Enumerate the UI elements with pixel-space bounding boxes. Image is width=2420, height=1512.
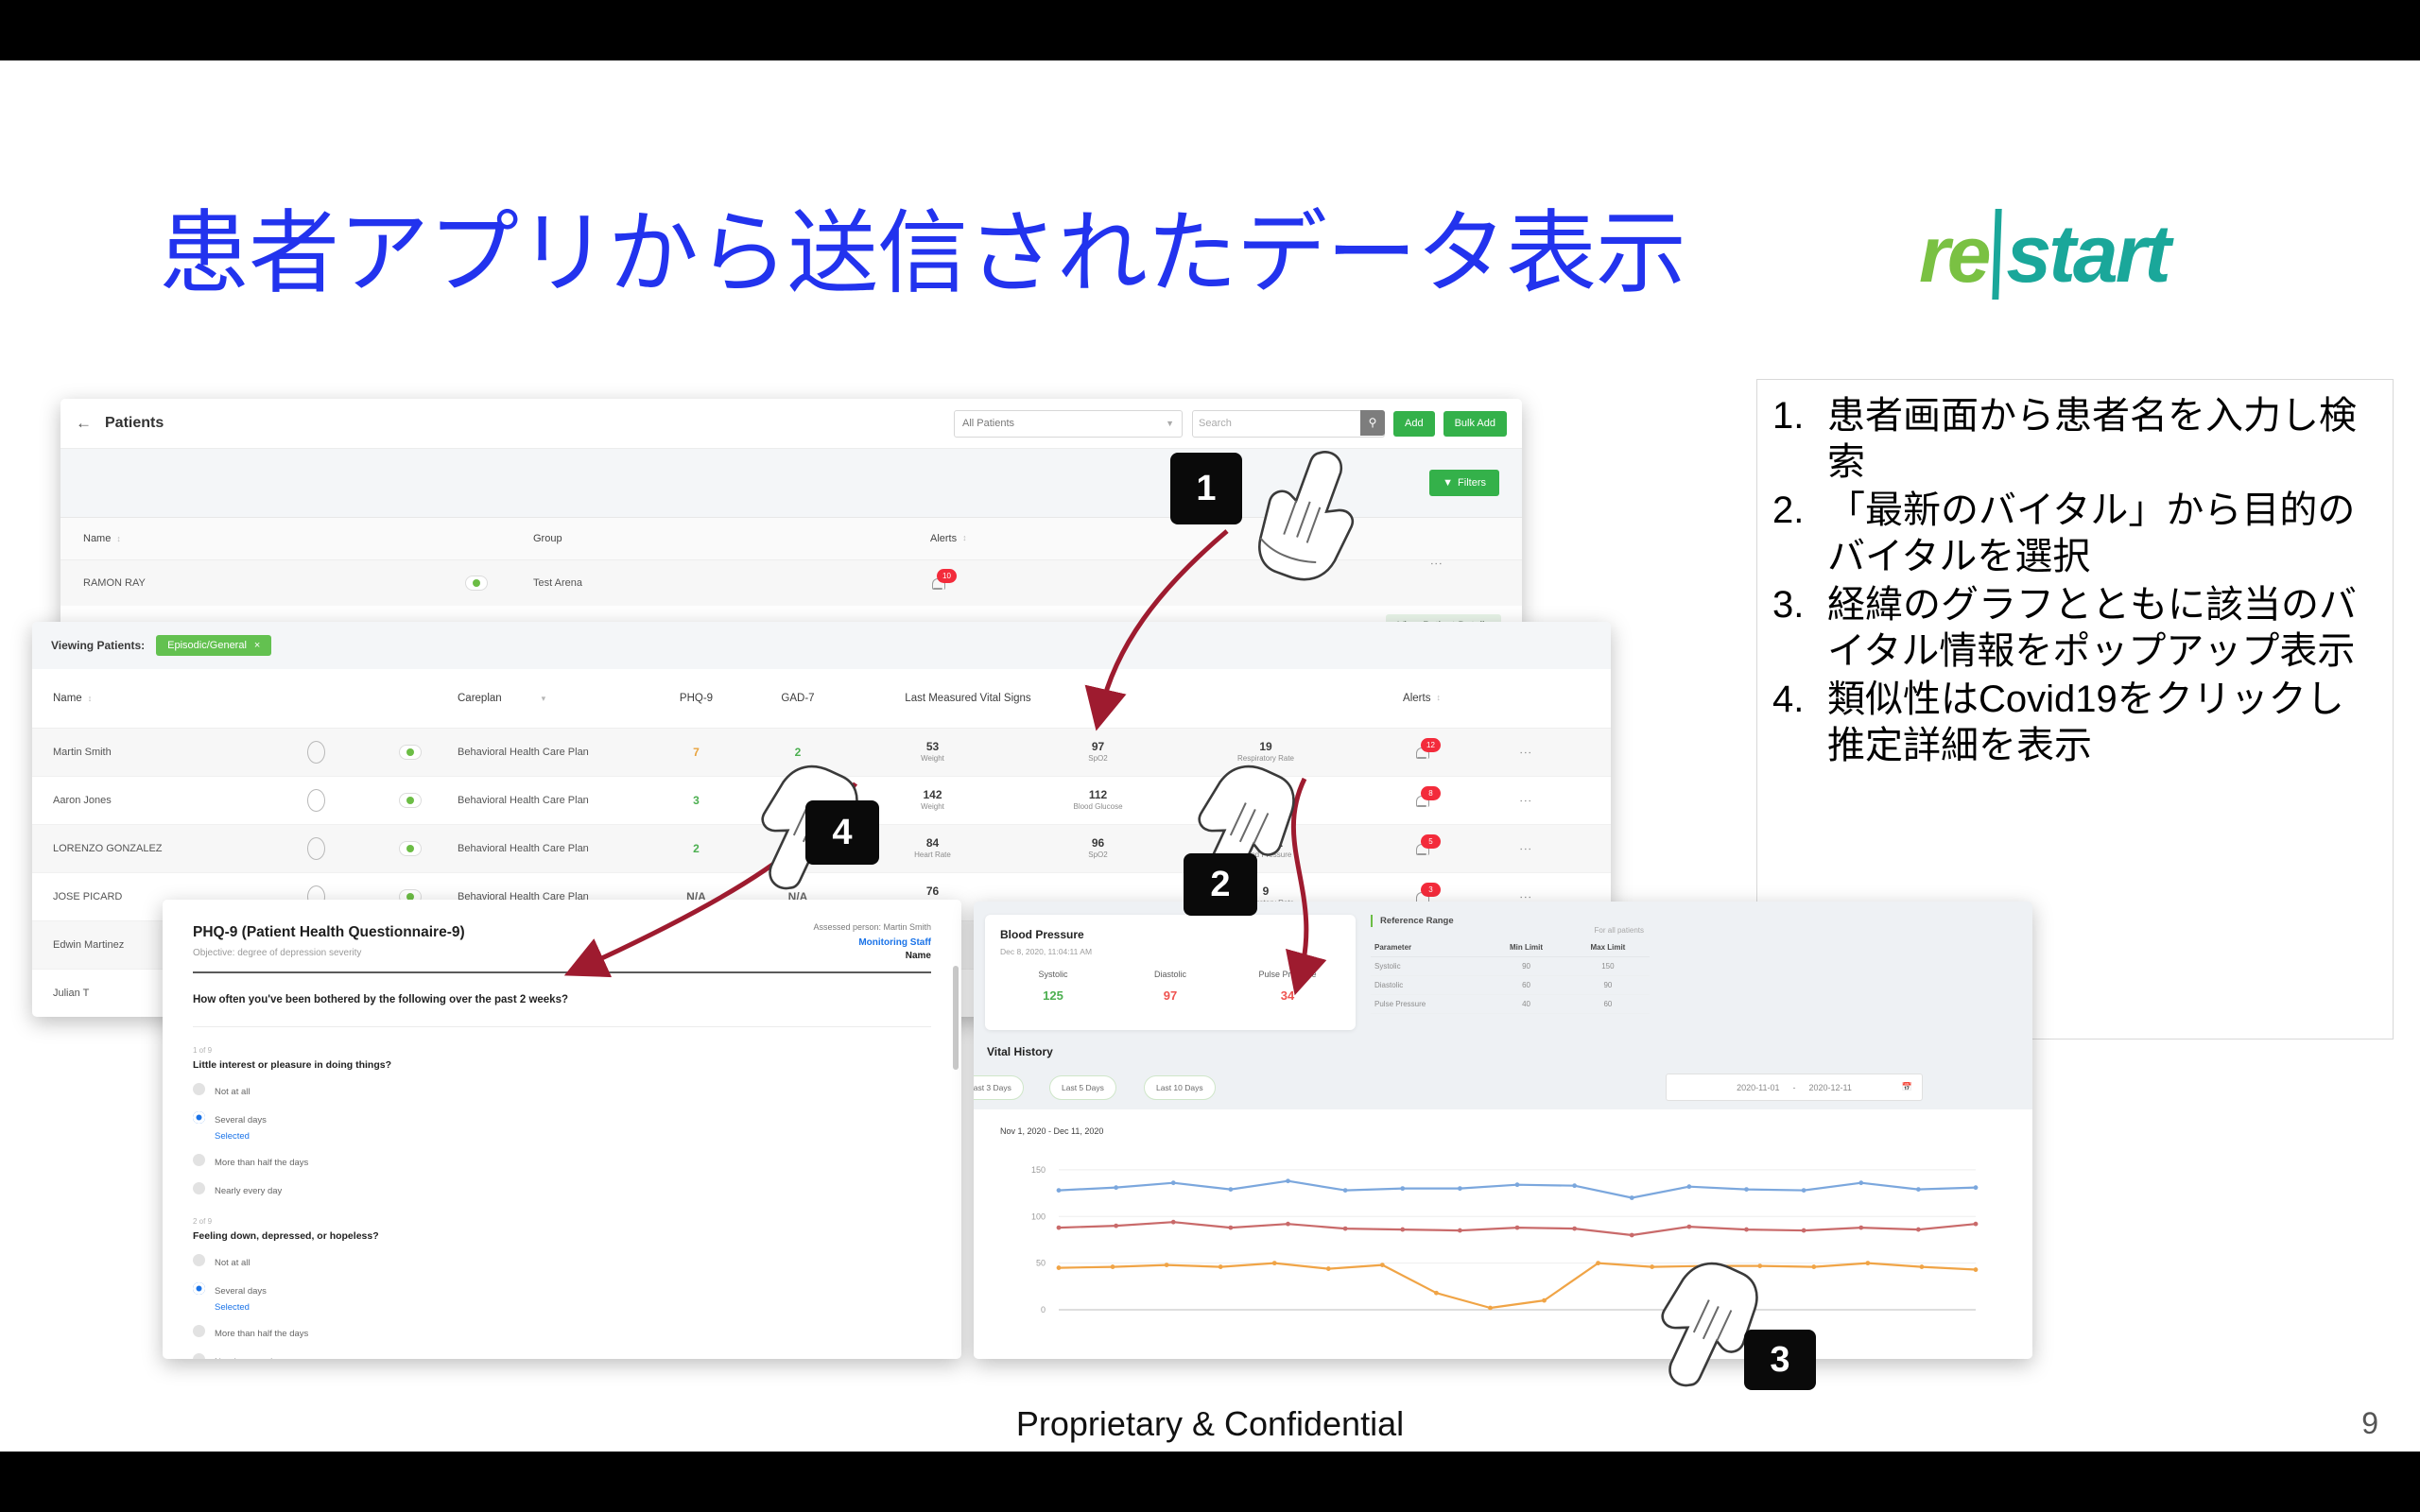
table-row[interactable]: RAMON RAY Test Arena 10	[60, 560, 1522, 606]
range-pill-5-days[interactable]: Last 5 Days	[1049, 1075, 1116, 1100]
calendar-icon[interactable]: 📅	[1902, 1082, 1912, 1092]
radio-option[interactable]: Several daysSelected	[193, 1281, 931, 1313]
list-item: 3. 経緯のグラフとともに該当のバイタル情報をポップアップ表示	[1827, 582, 2376, 675]
chart-svg: 050100150	[974, 1147, 2032, 1336]
vital-history-title: Vital History	[987, 1045, 1053, 1058]
date-from: 2020-11-01	[1737, 1083, 1779, 1092]
blood-pressure-metrics: Systolic 125 Diastolic 97 Pulse Pressure…	[985, 970, 1356, 1003]
bell-icon: 12	[1414, 744, 1429, 761]
vital-history-chart: Nov 1, 2020 - Dec 11, 2020 050100150	[974, 1109, 2032, 1359]
column-header-name-label: Name	[83, 533, 111, 544]
careplan: Behavioral Health Care Plan	[458, 747, 647, 758]
step-marker-4: 4	[805, 800, 879, 865]
phq9-score: 2	[647, 842, 746, 855]
status-toggle[interactable]	[363, 745, 458, 760]
row-menu-button[interactable]: ⋮	[1493, 843, 1559, 855]
table-row: Systolic 90 150	[1371, 957, 1650, 976]
status-badge: 5	[1421, 834, 1441, 849]
question-text: Little interest or pleasure in doing thi…	[193, 1059, 931, 1071]
svg-text:50: 50	[1036, 1259, 1046, 1268]
step-marker-1: 1	[1170, 453, 1242, 524]
phq9-prompt: How often you've been bothered by the fo…	[193, 994, 931, 1005]
patients-topbar: ← Patients All Patients ▼ Search ⚲ Add B…	[60, 399, 1522, 449]
patient-name: LORENZO GONZALEZ	[32, 843, 268, 854]
patients-screen-screenshot: ← Patients All Patients ▼ Search ⚲ Add B…	[60, 399, 1522, 644]
svg-text:100: 100	[1031, 1211, 1046, 1221]
sort-icon: ↕	[962, 533, 967, 544]
radio-option[interactable]: Not at all	[193, 1253, 931, 1270]
column-header-vitals: Last Measured Vital Signs	[850, 693, 1086, 704]
column-header-phq9: PHQ-9	[647, 693, 746, 704]
search-input-placeholder: Search	[1199, 418, 1232, 429]
sort-icon: ↕	[1436, 693, 1441, 704]
ref-col-parameter: Parameter	[1371, 938, 1486, 957]
reference-range-table: Parameter Min Limit Max Limit Systolic 9…	[1371, 938, 1650, 1014]
staff-name: Name	[813, 951, 931, 961]
careplan: Behavioral Health Care Plan	[458, 843, 647, 854]
column-header-gad7: GAD-7	[746, 693, 850, 704]
page-title: 患者アプリから送信されたデータ表示	[159, 202, 1823, 306]
list-item-number: 4.	[1772, 677, 1820, 723]
filters-button-label: Filters	[1458, 477, 1486, 489]
alerts-cell[interactable]: 8	[1351, 792, 1493, 809]
blood-pressure-card: Blood Pressure Dec 8, 2020, 11:04:11 AM …	[985, 915, 1356, 1030]
search-input[interactable]: Search ⚲	[1192, 410, 1385, 438]
sort-icon: ↕	[116, 534, 121, 543]
avatar	[268, 741, 363, 764]
alerts-cell[interactable]: 10	[930, 575, 1214, 592]
close-icon[interactable]: ×	[254, 640, 260, 651]
column-header-group-label: Group	[533, 533, 562, 544]
logo-re-text: re	[1919, 215, 1988, 294]
radio-option[interactable]: More than half the days	[193, 1324, 931, 1341]
filter-chip-label: Episodic/General	[167, 640, 247, 651]
chart-title: Nov 1, 2020 - Dec 11, 2020	[974, 1109, 2032, 1136]
status-toggle[interactable]	[363, 841, 458, 856]
step-marker-2: 2	[1184, 853, 1257, 916]
status-badge: 10	[937, 569, 957, 583]
avatar	[268, 789, 363, 812]
radio-option[interactable]: Nearly every day	[193, 1352, 931, 1359]
funnel-icon: ▾	[542, 694, 546, 703]
monitoring-staff-link[interactable]: Monitoring Staff	[813, 937, 931, 948]
vital-sign[interactable]: 96SpO2	[1015, 836, 1181, 861]
svg-text:150: 150	[1031, 1165, 1046, 1175]
patients-subbar: ▼ Filters	[60, 449, 1522, 518]
column-header-alerts-label: Alerts	[930, 533, 957, 544]
avatar	[268, 837, 363, 860]
radio-icon	[193, 1353, 205, 1359]
phq9-score: 3	[647, 794, 746, 807]
chevron-down-icon: ▼	[1166, 419, 1174, 428]
instructions-list: 1. 患者画面から患者名を入力し検索 2. 「最新のバイタル」から目的のバイタル…	[1757, 380, 2393, 769]
vital-sign[interactable]: 19Respiratory Rate	[1181, 740, 1351, 765]
gad7-score: 2	[746, 746, 850, 759]
question-block: 1 of 9 Little interest or pleasure in do…	[193, 1046, 931, 1198]
patients-title: Patients	[105, 415, 164, 432]
vital-detail-screenshot: Blood Pressure Dec 8, 2020, 11:04:11 AM …	[974, 902, 2032, 1359]
status-toggle[interactable]	[420, 576, 533, 591]
phq9-questionnaire-screenshot: PHQ-9 (Patient Health Questionnaire-9) O…	[163, 900, 961, 1359]
bell-icon: 8	[1414, 792, 1429, 809]
alerts-cell[interactable]: 12	[1351, 744, 1493, 761]
ref-col-max: Max Limit	[1566, 938, 1650, 957]
status-badge: 3	[1421, 883, 1441, 897]
vital-sign[interactable]: 97SpO2	[1015, 740, 1181, 765]
reference-range-card: Reference Range For all patients Paramet…	[1371, 915, 1650, 1030]
column-header-alerts[interactable]: Alerts↕	[1351, 693, 1493, 704]
patient-name: Aaron Jones	[32, 795, 268, 806]
radio-option[interactable]: Nearly every day	[193, 1181, 931, 1198]
patient-name: Martin Smith	[32, 747, 268, 758]
table-row: Pulse Pressure 40 60	[1371, 995, 1650, 1014]
blood-pressure-timestamp: Dec 8, 2020, 11:04:11 AM	[985, 941, 1356, 956]
status-toggle[interactable]	[363, 793, 458, 808]
list-item: 1. 患者画面から患者名を入力し検索	[1827, 393, 2376, 486]
list-item-text: 経緯のグラフとともに該当のバイタル情報をポップアップ表示	[1827, 584, 2357, 672]
toggle-on-icon	[399, 841, 422, 856]
bell-icon: 10	[930, 575, 945, 592]
page-number: 9	[2361, 1406, 2378, 1441]
list-item: 4. 類似性はCovid19をクリックし推定詳細を表示	[1827, 677, 2376, 769]
radio-icon	[193, 1083, 205, 1095]
sort-icon: ↕	[88, 694, 93, 703]
phq9-score: 7	[647, 746, 746, 759]
list-item-number: 2.	[1772, 488, 1820, 534]
radio-icon	[193, 1254, 205, 1266]
column-header-name[interactable]: Name↕	[60, 533, 420, 544]
reference-range-note: For all patients	[1595, 926, 1644, 935]
vital-history-toolbar: Last 3 Days Last 5 Days Last 10 Days 202…	[974, 1068, 2032, 1109]
svg-text:0: 0	[1041, 1305, 1046, 1314]
scrollbar[interactable]	[953, 966, 959, 1070]
radio-selected-icon	[193, 1111, 205, 1124]
slide-canvas: 患者アプリから送信されたデータ表示 re start 1. 患者画面から患者名を…	[0, 60, 2420, 1452]
radio-option[interactable]: More than half the days	[193, 1153, 931, 1170]
divider	[193, 1026, 931, 1027]
date-range-picker[interactable]: 2020-11-01 - 2020-12-11 📅	[1666, 1074, 1923, 1101]
viewing-patients-label: Viewing Patients:	[51, 639, 145, 652]
step-marker-3: 3	[1744, 1330, 1816, 1390]
bell-icon: 5	[1414, 840, 1429, 857]
list-item-text: 「最新のバイタル」から目的のバイタルを選択	[1827, 490, 2355, 577]
all-patients-select-value: All Patients	[962, 418, 1014, 429]
range-pill-10-days[interactable]: Last 10 Days	[1144, 1075, 1216, 1100]
ref-col-min: Min Limit	[1486, 938, 1566, 957]
phq9-body: PHQ-9 (Patient Health Questionnaire-9) O…	[163, 900, 961, 1359]
row-menu-button[interactable]: ⋮	[1493, 747, 1559, 759]
filters-button[interactable]: ▼ Filters	[1429, 470, 1499, 496]
selected-label: Selected	[215, 1302, 267, 1313]
footer-text: Proprietary & Confidential	[0, 1404, 2420, 1444]
row-menu-button[interactable]: ⋮	[1432, 558, 1441, 575]
logo-divider	[1993, 209, 2002, 300]
vital-sign[interactable]: 53Weight	[850, 740, 1015, 765]
selected-label: Selected	[215, 1131, 267, 1142]
question-text: Feeling down, depressed, or hopeless?	[193, 1230, 931, 1242]
column-header-name[interactable]: Name↕	[32, 693, 268, 704]
radio-icon	[193, 1182, 205, 1194]
toggle-on-icon	[399, 793, 422, 808]
radio-option[interactable]: Not at all	[193, 1082, 931, 1099]
metric-systolic: Systolic 125	[994, 970, 1112, 1003]
viewing-patients-bar: Viewing Patients: Episodic/General ×	[32, 622, 1611, 669]
vital-sign[interactable]: 115/78Blood Pressure	[1181, 788, 1351, 813]
column-header-alerts[interactable]: Alerts↕	[930, 533, 1214, 544]
radio-icon	[193, 1154, 205, 1166]
radio-option[interactable]: Several daysSelected	[193, 1110, 931, 1142]
arrow-left-icon[interactable]: ←	[76, 414, 92, 433]
logo-start-text: start	[2006, 214, 2168, 295]
column-header-careplan[interactable]: Careplan▾	[458, 693, 647, 704]
toggle-on-icon	[465, 576, 488, 591]
add-button[interactable]: Add	[1393, 411, 1435, 437]
alerts-cell[interactable]: 5	[1351, 840, 1493, 857]
question-index: 1 of 9	[193, 1046, 931, 1055]
assessed-person: Assessed person: Martin Smith	[813, 922, 931, 932]
list-item-text: 患者画面から患者名を入力し検索	[1827, 395, 2357, 483]
table-row[interactable]: Martin Smith Behavioral Health Care Plan…	[32, 729, 1611, 777]
metric-diastolic: Diastolic 97	[1112, 970, 1229, 1003]
list-item-number: 3.	[1772, 582, 1820, 628]
metric-pulse-pressure: Pulse Pressure 34	[1229, 970, 1346, 1003]
divider	[193, 971, 931, 973]
list-item: 2. 「最新のバイタル」から目的のバイタルを選択	[1827, 488, 2376, 580]
list-item-number: 1.	[1772, 393, 1820, 439]
blood-pressure-title: Blood Pressure	[985, 915, 1356, 941]
question-block: 2 of 9 Feeling down, depressed, or hopel…	[193, 1217, 931, 1359]
patients-table-header: Name↕ Group Alerts↕	[60, 518, 1522, 560]
status-badge: 8	[1421, 786, 1441, 800]
funnel-icon: ▼	[1443, 477, 1453, 489]
status-badge: 12	[1421, 738, 1441, 752]
column-header-group: Group	[533, 533, 930, 544]
patient-group: Test Arena	[533, 577, 930, 589]
careplan: Behavioral Health Care Plan	[458, 795, 647, 806]
bulk-add-button[interactable]: Bulk Add	[1443, 411, 1507, 437]
list-item-text: 類似性はCovid19をクリックし推定詳細を表示	[1827, 679, 2344, 766]
vital-sign[interactable]: 112Blood Glucose	[1015, 788, 1181, 813]
toggle-on-icon	[399, 745, 422, 760]
assessed-person-block: Assessed person: Martin Smith Monitoring…	[813, 922, 931, 961]
search-icon[interactable]: ⚲	[1360, 410, 1385, 436]
table-row: Diastolic 60 90	[1371, 976, 1650, 995]
restart-logo: re start	[1919, 207, 2169, 301]
question-index: 2 of 9	[193, 1217, 931, 1226]
date-separator: -	[1793, 1083, 1796, 1092]
filter-chip[interactable]: Episodic/General ×	[156, 635, 271, 656]
table-header-row: Name↕ Careplan▾ PHQ-9 GAD-7 Last Measure…	[32, 669, 1611, 729]
patient-name: RAMON RAY	[60, 577, 420, 589]
row-menu-button[interactable]: ⋮	[1493, 795, 1559, 807]
radio-selected-icon	[193, 1282, 205, 1295]
all-patients-select[interactable]: All Patients ▼	[954, 410, 1183, 438]
range-pill-3-days[interactable]: Last 3 Days	[974, 1075, 1024, 1100]
radio-icon	[193, 1325, 205, 1337]
date-to: 2020-12-11	[1809, 1083, 1852, 1092]
